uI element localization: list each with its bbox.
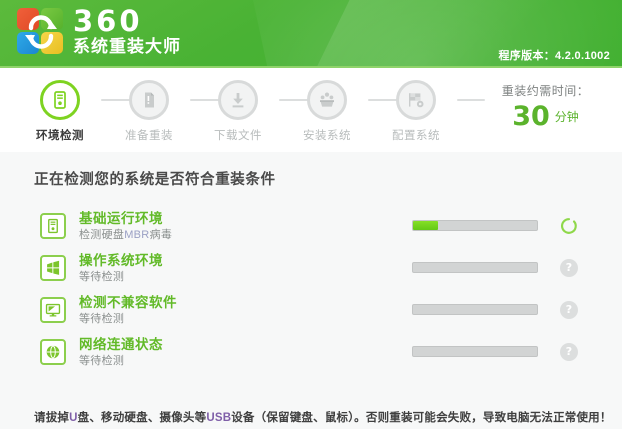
step-item-zhunbeichongzhuang[interactable]: 准备重装 [104,80,194,143]
check-subtitle: 等待检测 [79,354,163,369]
step-item-anzhuangxitong[interactable]: 安装系统 [282,80,372,143]
360-logo [17,8,65,56]
check-subtitle-pre: 检测硬盘 [79,229,124,241]
warning-usb-u: U [69,412,78,424]
version-label: 程序版本：4.2.0.1002 [499,47,611,63]
progress-bar [412,346,538,357]
timer-label: 重装约需时间： [483,82,608,99]
footer-bar: 请拔掉U盘、移动硬盘、摄像头等USB设备（保留键盘、鼠标）。否则重装可能会失败，… [0,404,622,429]
check-row: 检测不兼容软件 等待检测 ? [0,294,622,336]
step-circle-1 [40,80,80,120]
question-mark-icon: ? [560,343,578,361]
check-title: 检测不兼容软件 [79,294,177,311]
step-label-3: 下载文件 [193,127,283,143]
timer-unit: 分钟 [555,110,579,124]
warning-pre: 请拔掉 [34,412,69,424]
monitor-icon [40,297,66,323]
progress-bar [412,304,538,315]
check-subtitle: 等待检测 [79,270,163,285]
step-circle-3 [218,80,258,120]
logo-refresh-arrows-icon [17,8,65,56]
check-row: 操作系统环境 等待检测 ? [0,252,622,294]
windows-logo-icon [40,255,66,281]
check-text-block: 网络连通状态 等待检测 [79,336,163,369]
loading-spinner-icon [560,217,578,235]
globe-icon [40,339,66,365]
step-item-peizhixitong[interactable]: 配置系统 [371,80,461,143]
question-mark-icon: ? [560,259,578,277]
check-subtitle: 检测硬盘MBR病毒 [79,228,172,243]
step-connector-5 [457,99,485,101]
page-title: 正在检测您的系统是否符合重装条件 [34,168,276,189]
question-mark-icon: ? [560,301,578,319]
step-circle-5 [396,80,436,120]
step-label-2: 准备重装 [104,127,194,143]
check-title: 操作系统环境 [79,252,163,269]
check-status: ? [560,259,578,277]
timer-minutes: 30 [512,101,550,132]
check-list: 基础运行环境 检测硬盘MBR病毒 [0,210,622,378]
package-box-icon [317,90,337,110]
warning-usb-word: USB [206,412,231,424]
download-arrow-icon [228,90,248,110]
check-subtitle-post: 病毒 [150,229,173,241]
step-label-5: 配置系统 [371,127,461,143]
flag-gear-icon [406,90,426,110]
app-header: 360 系统重装大师 程序版本：4.2.0.1002 [0,0,622,68]
computer-tower-icon [40,213,66,239]
brand-block: 360 系统重装大师 [73,6,181,57]
app-window: 360 系统重装大师 程序版本：4.2.0.1002 环境检测 [0,0,622,429]
warning-text: 请拔掉U盘、移动硬盘、摄像头等USB设备（保留键盘、鼠标）。否则重装可能会失败，… [34,409,612,425]
main-content: 正在检测您的系统是否符合重装条件 基础运行环境 检测硬盘MBR病毒 [0,152,622,404]
check-row: 基础运行环境 检测硬盘MBR病毒 [0,210,622,252]
check-row: 网络连通状态 等待检测 ? [0,336,622,378]
step-circle-4 [307,80,347,120]
step-label-4: 安装系统 [282,127,372,143]
estimated-time-block: 重装约需时间： 30分钟 [483,82,608,131]
steps-bar: 环境检测 准备重装 下载文件 [0,68,622,153]
warning-post: 设备（保留键盘、鼠标）。否则重装可能会失败，导致电脑无法正常使用！ [231,412,611,424]
timer-value-row: 30分钟 [483,103,608,131]
step-item-xiazaiwenjian[interactable]: 下载文件 [193,80,283,143]
computer-tower-icon [50,90,70,110]
progress-bar [412,262,538,273]
step-circle-2 [129,80,169,120]
check-text-block: 操作系统环境 等待检测 [79,252,163,285]
step-label-1: 环境检测 [15,127,105,143]
check-status: ? [560,301,578,319]
check-text-block: 检测不兼容软件 等待检测 [79,294,177,327]
check-text-block: 基础运行环境 检测硬盘MBR病毒 [79,210,172,243]
check-subtitle: 等待检测 [79,312,177,327]
check-status [560,217,578,235]
warning-mid: 盘、移动硬盘、摄像头等 [78,412,207,424]
document-warning-icon [139,90,159,110]
progress-bar-fill [413,221,438,230]
check-title: 网络连通状态 [79,336,163,353]
check-status: ? [560,343,578,361]
check-subtitle-highlight: MBR [124,229,149,241]
progress-bar [412,220,538,231]
brand-subtitle: 系统重装大师 [73,37,181,57]
brand-number: 360 [73,6,181,36]
check-title: 基础运行环境 [79,210,172,227]
step-item-huanjingjiance[interactable]: 环境检测 [15,80,105,143]
